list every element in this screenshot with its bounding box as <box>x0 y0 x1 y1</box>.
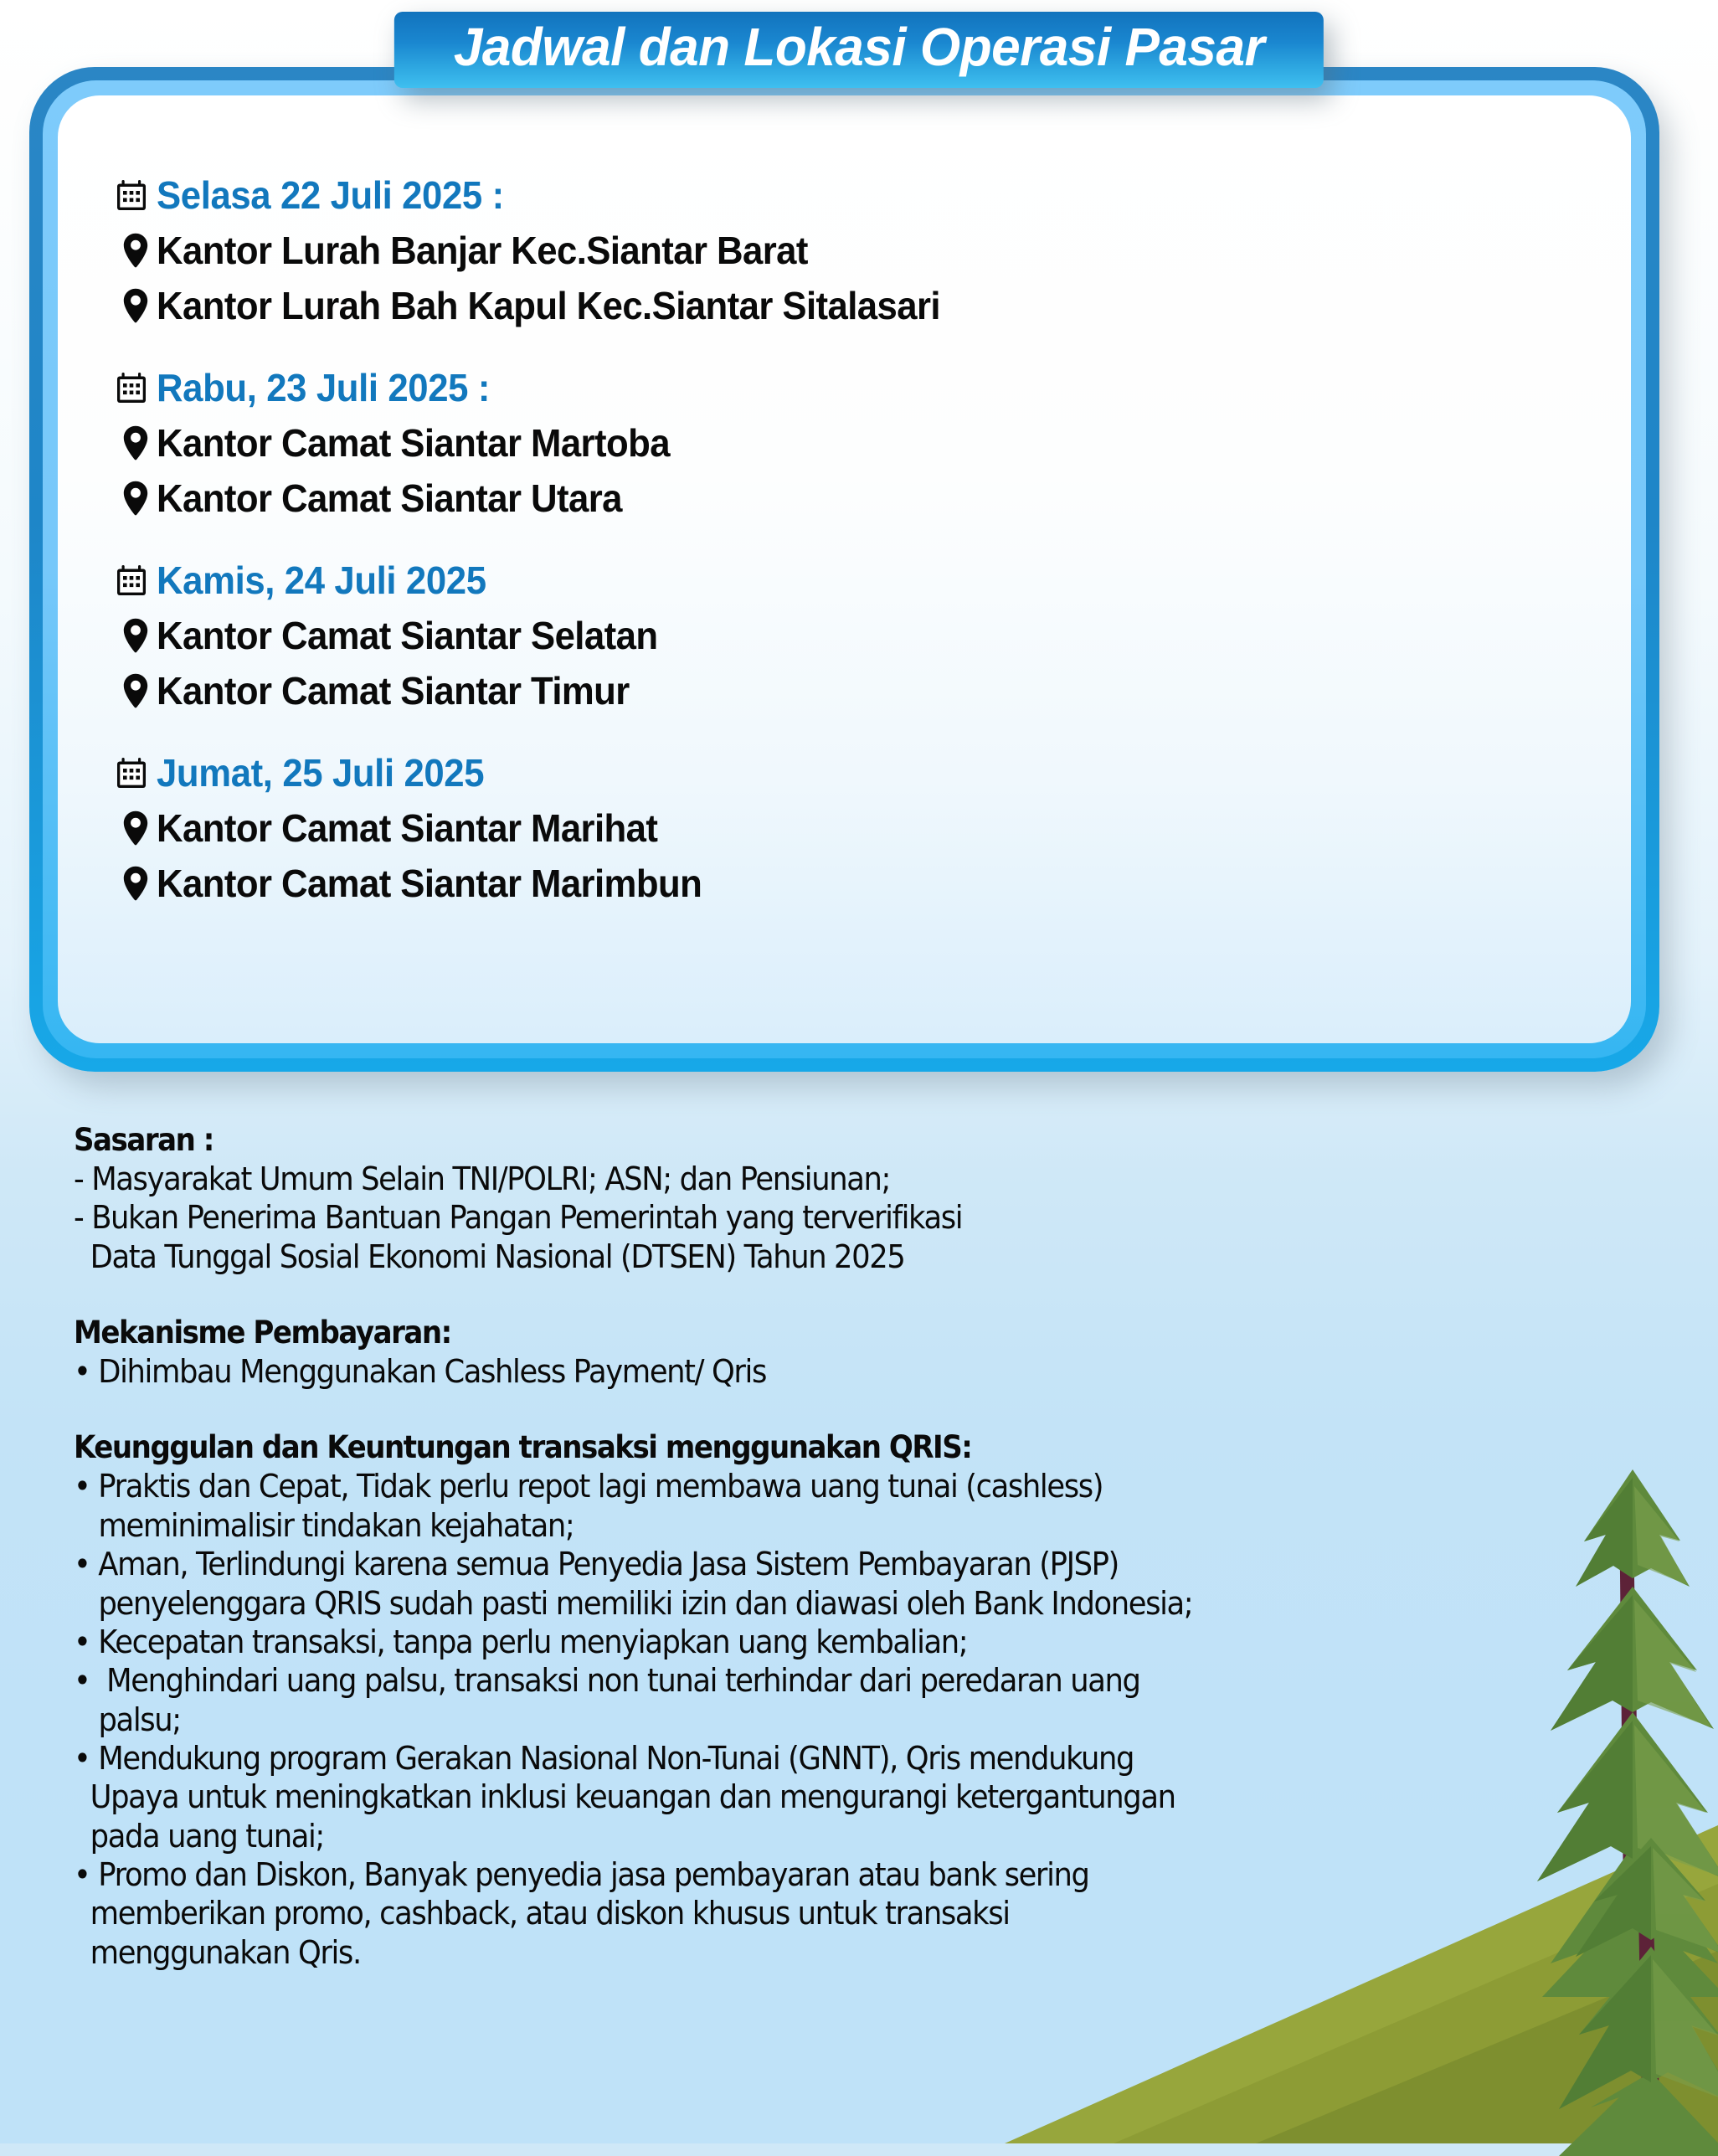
location-pin-icon <box>123 233 148 268</box>
text-line: meminimalisir tindakan kejahatan; <box>74 1506 1468 1545</box>
location-pin-icon <box>123 810 148 846</box>
schedule-date-row: Kamis, 24 Juli 2025 <box>116 558 1572 603</box>
location-pin-icon <box>123 866 148 901</box>
card-body: Selasa 22 Juli 2025 :Kantor Lurah Banjar… <box>58 95 1631 1043</box>
schedule-list: Selasa 22 Juli 2025 :Kantor Lurah Banjar… <box>116 172 1572 906</box>
title-banner: Jadwal dan Lokasi Operasi Pasar <box>394 12 1324 88</box>
schedule-location-label: Kantor Lurah Banjar Kec.Siantar Barat <box>157 228 808 273</box>
text-line: • Mendukung program Gerakan Nasional Non… <box>74 1739 1468 1778</box>
section-mekanisme: Mekanisme Pembayaran: • Dihimbau Menggun… <box>74 1315 1572 1391</box>
location-pin-icon <box>123 288 148 323</box>
schedule-date-row: Rabu, 23 Juli 2025 : <box>116 365 1572 410</box>
text-line: memberikan promo, cashback, atau diskon … <box>74 1894 1468 1932</box>
page-title: Jadwal dan Lokasi Operasi Pasar <box>454 20 1264 75</box>
schedule-location-row: Kantor Camat Siantar Marihat <box>116 805 1572 851</box>
text-line: pada uang tunai; <box>74 1817 1468 1855</box>
text-line: - Bukan Penerima Bantuan Pangan Pemerint… <box>74 1198 1468 1237</box>
schedule-date-label: Rabu, 23 Juli 2025 : <box>157 365 490 410</box>
schedule-location-label: Kantor Camat Siantar Utara <box>157 476 622 521</box>
schedule-group: Jumat, 25 Juli 2025Kantor Camat Siantar … <box>116 750 1572 906</box>
mekanisme-title: Mekanisme Pembayaran: <box>74 1315 1453 1351</box>
schedule-date-label: Kamis, 24 Juli 2025 <box>157 558 486 603</box>
location-pin-icon <box>123 618 148 653</box>
text-line: palsu; <box>74 1701 1468 1739</box>
schedule-location-row: Kantor Camat Siantar Martoba <box>116 420 1572 466</box>
text-line: Upaya untuk meningkatkan inklusi keuanga… <box>74 1778 1468 1816</box>
section-keunggulan: Keunggulan dan Keuntungan transaksi meng… <box>74 1429 1572 1972</box>
card-inner-border: Selasa 22 Juli 2025 :Kantor Lurah Banjar… <box>43 80 1646 1058</box>
text-line: • Praktis dan Cepat, Tidak perlu repot l… <box>74 1467 1468 1505</box>
schedule-location-label: Kantor Camat Siantar Timur <box>157 668 630 713</box>
schedule-date-row: Selasa 22 Juli 2025 : <box>116 172 1572 218</box>
text-line: menggunakan Qris. <box>74 1933 1468 1972</box>
schedule-group: Selasa 22 Juli 2025 :Kantor Lurah Banjar… <box>116 172 1572 328</box>
calendar-icon <box>116 564 147 596</box>
schedule-location-row: Kantor Lurah Bah Kapul Kec.Siantar Sital… <box>116 283 1572 328</box>
calendar-icon <box>116 179 147 211</box>
schedule-location-label: Kantor Camat Siantar Marimbun <box>157 861 702 906</box>
text-line: • Dihimbau Menggunakan Cashless Payment/… <box>74 1352 1468 1391</box>
text-line: • Aman, Terlindungi karena semua Penyedi… <box>74 1545 1468 1583</box>
schedule-location-label: Kantor Camat Siantar Martoba <box>157 420 670 466</box>
schedule-card: Selasa 22 Juli 2025 :Kantor Lurah Banjar… <box>29 67 1659 1072</box>
schedule-group: Kamis, 24 Juli 2025Kantor Camat Siantar … <box>116 558 1572 713</box>
schedule-location-row: Kantor Lurah Banjar Kec.Siantar Barat <box>116 228 1572 273</box>
schedule-location-row: Kantor Camat Siantar Timur <box>116 668 1572 713</box>
schedule-group: Rabu, 23 Juli 2025 :Kantor Camat Siantar… <box>116 365 1572 521</box>
text-line: Data Tunggal Sosial Ekonomi Nasional (DT… <box>74 1238 1468 1276</box>
text-line: - Masyarakat Umum Selain TNI/POLRI; ASN;… <box>74 1160 1468 1198</box>
location-pin-icon <box>123 425 148 461</box>
schedule-location-row: Kantor Camat Siantar Utara <box>116 476 1572 521</box>
schedule-location-row: Kantor Camat Siantar Selatan <box>116 613 1572 658</box>
lower-content: Sasaran : - Masyarakat Umum Selain TNI/P… <box>74 1122 1572 1972</box>
text-line: • Menghindari uang palsu, transaksi non … <box>74 1661 1468 1700</box>
schedule-location-label: Kantor Camat Siantar Marihat <box>157 805 657 851</box>
schedule-date-label: Selasa 22 Juli 2025 : <box>157 172 504 218</box>
sasaran-lines: - Masyarakat Umum Selain TNI/POLRI; ASN;… <box>74 1160 1572 1276</box>
location-pin-icon <box>123 481 148 516</box>
location-pin-icon <box>123 673 148 708</box>
section-sasaran: Sasaran : - Masyarakat Umum Selain TNI/P… <box>74 1122 1572 1276</box>
keunggulan-title: Keunggulan dan Keuntungan transaksi meng… <box>74 1429 1453 1465</box>
schedule-location-label: Kantor Lurah Bah Kapul Kec.Siantar Sital… <box>157 283 940 328</box>
sasaran-title: Sasaran : <box>74 1122 1453 1158</box>
text-line: penyelenggara QRIS sudah pasti memiliki … <box>74 1584 1468 1623</box>
schedule-location-label: Kantor Camat Siantar Selatan <box>157 613 657 658</box>
text-line: • Kecepatan transaksi, tanpa perlu menyi… <box>74 1623 1468 1661</box>
keunggulan-lines: • Praktis dan Cepat, Tidak perlu repot l… <box>74 1467 1572 1972</box>
mekanisme-lines: • Dihimbau Menggunakan Cashless Payment/… <box>74 1352 1572 1391</box>
calendar-icon <box>116 757 147 789</box>
calendar-icon <box>116 372 147 404</box>
schedule-date-row: Jumat, 25 Juli 2025 <box>116 750 1572 795</box>
schedule-date-label: Jumat, 25 Juli 2025 <box>157 750 484 795</box>
schedule-location-row: Kantor Camat Siantar Marimbun <box>116 861 1572 906</box>
text-line: • Promo dan Diskon, Banyak penyedia jasa… <box>74 1855 1468 1894</box>
